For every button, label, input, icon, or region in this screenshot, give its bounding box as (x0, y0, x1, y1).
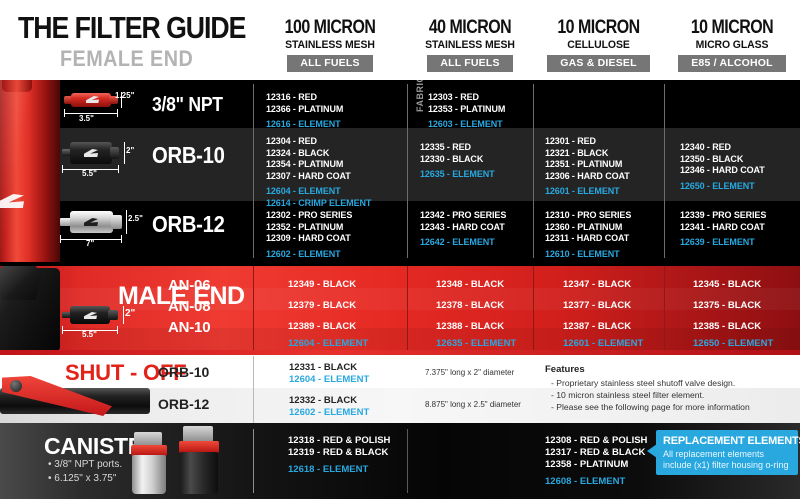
dimension-tick (126, 210, 127, 234)
column-header-40-micron: 40 MICRON STAINLESS MESH ALL FUELS (407, 18, 533, 72)
column-divider (533, 266, 534, 350)
dimension-length-orb12: 7" (86, 239, 94, 248)
column-divider (253, 429, 254, 493)
part-number: 12360 - PLATINUM (545, 222, 631, 234)
canister-part: 12308 - RED & POLISH (545, 435, 647, 446)
element-part-number: 12639 - ELEMENT (680, 237, 766, 249)
part-number: 12340 - RED (680, 142, 765, 154)
column-divider (664, 84, 665, 258)
part-number: 12346 - HARD COAT (680, 165, 765, 177)
part-cell: 12379 - BLACK (288, 300, 356, 311)
column-header-100-micron: 100 MICRON STAINLESS MESH ALL FUELS (253, 18, 407, 72)
dimension-tick (117, 326, 118, 334)
element-part-number: 12635 - ELEMENT (420, 169, 495, 181)
dimension-tick (121, 235, 122, 243)
filter-guide-page: THE FILTER GUIDE FEMALE END 100 MICRON S… (0, 0, 800, 499)
dimension-tick (118, 165, 119, 173)
shutoff-part-orb12: 12332 - BLACK (289, 395, 357, 406)
filter-drawing-orb12 (60, 210, 122, 234)
section-divider-strip (0, 350, 800, 355)
part-number: 12324 - BLACK (266, 148, 371, 160)
part-list-cell: 12301 - RED12321 - BLACK12351 - PLATINUM… (545, 136, 630, 198)
dimension-tick (60, 235, 61, 243)
element-part-number: 12604 - ELEMENT (266, 186, 371, 198)
shutoff-row-label-orb10: ORB-10 (158, 364, 209, 380)
shutoff-dimension-orb10: 7.375" long x 2" diameter (425, 368, 514, 377)
part-list-cell: 12339 - PRO SERIES12341 - HARD COAT12639… (680, 210, 766, 249)
column-divider (253, 356, 254, 423)
column-divider (664, 266, 665, 350)
callout-body: All replacement elements include (x1) fi… (663, 449, 791, 471)
male-filter-photo (0, 268, 60, 350)
part-list-cell: 12303 - RED12353 - PLATINUM12603 - ELEME… (428, 92, 505, 131)
dimension-diameter-npt: 1.25" (115, 91, 134, 100)
part-cell: 12375 - BLACK (693, 300, 761, 311)
part-list-cell: 12304 - RED12324 - BLACK12354 - PLATINUM… (266, 136, 371, 210)
fuel-badge: ALL FUELS (427, 55, 512, 73)
column-header-10-micron-cellulose: 10 MICRON CELLULOSE GAS & DIESEL (533, 18, 664, 72)
part-number: 12352 - PLATINUM (266, 222, 352, 234)
part-cell: 12388 - BLACK (436, 321, 504, 332)
feature-line: - Please see the following page for more… (551, 402, 750, 412)
element-part-number: 12601 - ELEMENT (545, 186, 630, 198)
element-cell: 12604 - ELEMENT (288, 338, 368, 349)
row-label-npt: 3/8" NPT (152, 94, 223, 117)
canister-bullet: • 6.125" x 3.75" (48, 473, 116, 484)
dimension-tick (117, 109, 118, 117)
section-subtitle-female-end: FEMALE END (60, 46, 193, 72)
part-number: 12330 - BLACK (420, 154, 495, 166)
fuel-badge: E85 / ALCOHOL (678, 55, 786, 73)
column-divider (253, 84, 254, 258)
element-part-number: 12602 - ELEMENT (266, 249, 352, 261)
row-label-orb10: ORB-10 (152, 142, 225, 169)
canister-photo-polish (128, 432, 170, 494)
filter-drawing-npt (64, 92, 118, 108)
element-cell: 12601 - ELEMENT (563, 338, 643, 349)
canister-element: 12618 - ELEMENT (288, 464, 368, 475)
fuel-badge: GAS & DIESEL (547, 55, 650, 73)
canister-part: 12318 - RED & POLISH (288, 435, 390, 446)
replacement-elements-callout: REPLACEMENT ELEMENTS All replacement ele… (656, 430, 798, 475)
element-cell: 12635 - ELEMENT (436, 338, 516, 349)
element-part-number: 12614 - CRIMP ELEMENT (266, 198, 371, 210)
element-cell: 12650 - ELEMENT (693, 338, 773, 349)
element-part-number: 12650 - ELEMENT (680, 181, 765, 193)
fabric-side-label: FABRIC (415, 80, 425, 112)
column-divider (533, 84, 534, 258)
shutoff-element-orb10: 12604 - ELEMENT (289, 374, 369, 385)
part-list-cell: 12335 - RED12330 - BLACK12635 - ELEMENT (420, 142, 495, 181)
brand-logo-icon (0, 194, 24, 208)
part-cell: 12349 - BLACK (288, 279, 356, 290)
element-part-number: 12642 - ELEMENT (420, 237, 506, 249)
features-title: Features (545, 364, 585, 375)
part-cell: 12385 - BLACK (693, 321, 761, 332)
male-row-label-an08: AN-08 (168, 298, 210, 315)
dimension-tick (62, 326, 63, 334)
male-end-section: MALE END 5.5" 2" AN-06 AN-08 AN-10 12349… (0, 262, 800, 350)
male-row-label-an06: AN-06 (168, 277, 210, 294)
canister-bullet: • 3/8" NPT ports. (48, 459, 122, 470)
part-number: 12351 - PLATINUM (545, 159, 630, 171)
part-number: 12335 - RED (420, 142, 495, 154)
female-filter-photo (0, 80, 60, 262)
dimension-length-npt: 3.5" (79, 114, 94, 123)
dimension-tick (62, 165, 63, 173)
part-cell: 12389 - BLACK (288, 321, 356, 332)
shutoff-element-orb12: 12602 - ELEMENT (289, 407, 369, 418)
dimension-diameter-orb12: 2.5" (128, 214, 143, 223)
part-number: 12307 - HARD COAT (266, 171, 371, 183)
shutoff-part-orb10: 12331 - BLACK (289, 362, 357, 373)
male-row-label-an10: AN-10 (168, 319, 210, 336)
part-list-cell: 12342 - PRO SERIES12343 - HARD COAT12642… (420, 210, 506, 249)
part-number: 12339 - PRO SERIES (680, 210, 766, 222)
part-number: 12316 - RED (266, 92, 343, 104)
canister-photo-black (176, 426, 222, 494)
filter-drawing-male (62, 306, 118, 324)
part-number: 12304 - RED (266, 136, 371, 148)
feature-line: - 10 micron stainless steel filter eleme… (551, 390, 704, 400)
part-number: 12311 - HARD COAT (545, 233, 631, 245)
part-cell: 12347 - BLACK (563, 279, 631, 290)
part-list-cell: 12310 - PRO SERIES12360 - PLATINUM12311 … (545, 210, 631, 260)
part-number: 12309 - HARD COAT (266, 233, 352, 245)
canister-element: 12608 - ELEMENT (545, 476, 625, 487)
part-cell: 12377 - BLACK (563, 300, 631, 311)
part-number: 12303 - RED (428, 92, 505, 104)
part-number: 12354 - PLATINUM (266, 159, 371, 171)
dimension-tick (124, 142, 125, 164)
part-cell: 12387 - BLACK (563, 321, 631, 332)
female-end-section: 3.5" 1.25" 3/8" NPT 5.5" 2" ORB-10 7" 2 (0, 80, 800, 262)
part-number: 12353 - PLATINUM (428, 104, 505, 116)
row-shading (0, 328, 800, 350)
dimension-tick (123, 306, 124, 324)
fuel-badge: ALL FUELS (287, 55, 372, 73)
part-number: 12350 - BLACK (680, 154, 765, 166)
part-number: 12306 - HARD COAT (545, 171, 630, 183)
part-number: 12301 - RED (545, 136, 630, 148)
element-part-number: 12616 - ELEMENT (266, 119, 343, 131)
column-header-10-micron-micro-glass: 10 MICRON MICRO GLASS E85 / ALCOHOL (664, 18, 800, 72)
column-divider (407, 84, 408, 258)
part-cell: 12378 - BLACK (436, 300, 504, 311)
dimension-tick (64, 109, 65, 117)
shutoff-row-label-orb12: ORB-12 (158, 396, 209, 412)
column-divider (407, 266, 408, 350)
part-number: 12341 - HARD COAT (680, 222, 766, 234)
canister-part: 12358 - PLATINUM (545, 459, 628, 470)
valve-pivot (10, 380, 22, 392)
feature-line: - Proprietary stainless steel shutoff va… (551, 378, 735, 388)
dimension-diameter-male: 2" (125, 308, 135, 319)
callout-title: REPLACEMENT ELEMENTS (663, 435, 791, 447)
page-title: THE FILTER GUIDE (18, 10, 245, 46)
shutoff-section: SHUT - OFF ORB-10 ORB-12 12331 - BLACK 1… (0, 350, 800, 423)
dimension-diameter-orb10: 2" (126, 146, 134, 155)
column-divider (253, 266, 254, 350)
part-cell: 12345 - BLACK (693, 279, 761, 290)
column-divider (407, 429, 408, 493)
part-list-cell: 12302 - PRO SERIES12352 - PLATINUM12309 … (266, 210, 352, 260)
element-part-number: 12610 - ELEMENT (545, 249, 631, 261)
part-number: 12310 - PRO SERIES (545, 210, 631, 222)
part-number: 12366 - PLATINUM (266, 104, 343, 116)
canister-part: 12317 - RED & BLACK (545, 447, 645, 458)
row-label-orb12: ORB-12 (152, 211, 225, 238)
part-number: 12321 - BLACK (545, 148, 630, 160)
element-part-number: 12603 - ELEMENT (428, 119, 505, 131)
part-number: 12343 - HARD COAT (420, 222, 506, 234)
dimension-length-male: 5.5" (82, 330, 97, 339)
dimension-length-orb10: 5.5" (82, 169, 97, 178)
filter-drawing-orb10 (62, 142, 119, 164)
part-cell: 12348 - BLACK (436, 279, 504, 290)
canister-part: 12319 - RED & BLACK (288, 447, 388, 458)
shutoff-dimension-orb12: 8.875" long x 2.5" diameter (425, 400, 521, 409)
part-number: 12302 - PRO SERIES (266, 210, 352, 222)
part-list-cell: 12340 - RED12350 - BLACK12346 - HARD COA… (680, 142, 765, 192)
page-header: THE FILTER GUIDE FEMALE END 100 MICRON S… (0, 0, 800, 80)
part-number: 12342 - PRO SERIES (420, 210, 506, 222)
part-list-cell: 12316 - RED12366 - PLATINUM12616 - ELEME… (266, 92, 343, 131)
